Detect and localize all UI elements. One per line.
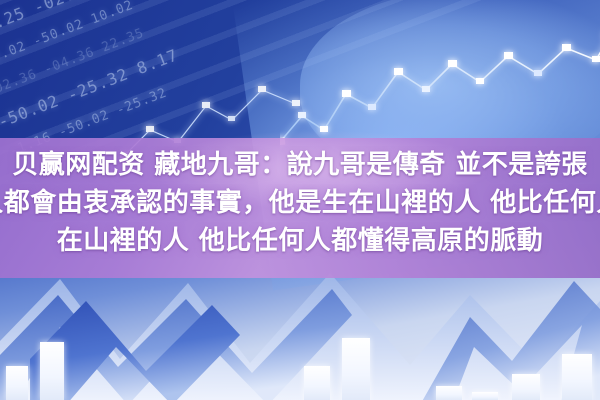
- bar: [40, 342, 64, 400]
- bar: [436, 386, 462, 400]
- bar: [472, 392, 498, 400]
- headline-line-1: 贝赢网配资 藏地九哥：說九哥是傳奇 並不是誇張: [12, 146, 588, 184]
- bar: [512, 374, 540, 400]
- headline-line-2-clip: 人都會由衷承認的事實，他是生在山裡的人 他比任何人: [0, 184, 600, 222]
- headline-line-2: 人都會由衷承認的事實，他是生在山裡的人 他比任何人: [0, 184, 600, 222]
- line-chart-nodes: [280, 32, 600, 145]
- bar: [342, 338, 370, 400]
- banner-image: -04.36 -11.25 21.15 -1.25 -45.02 45.02 -…: [0, 0, 600, 400]
- headline-line-3-clip: 在山裡的人 他比任何人都懂得高原的脈動: [0, 222, 600, 260]
- bar: [6, 366, 28, 400]
- bar: [562, 354, 592, 400]
- headline-text-block: 贝赢网配资 藏地九哥：說九哥是傳奇 並不是誇張 人都會由衷承認的事實，他是生在山…: [0, 138, 600, 278]
- bar-chart-left: [0, 300, 130, 400]
- headline-line-3: 在山裡的人 他比任何人都懂得高原的脈動: [57, 222, 544, 260]
- headline-line-1-clip: 贝赢网配资 藏地九哥：說九哥是傳奇 並不是誇張: [0, 146, 600, 184]
- bar-chart-right: [300, 310, 600, 400]
- bar: [304, 366, 330, 400]
